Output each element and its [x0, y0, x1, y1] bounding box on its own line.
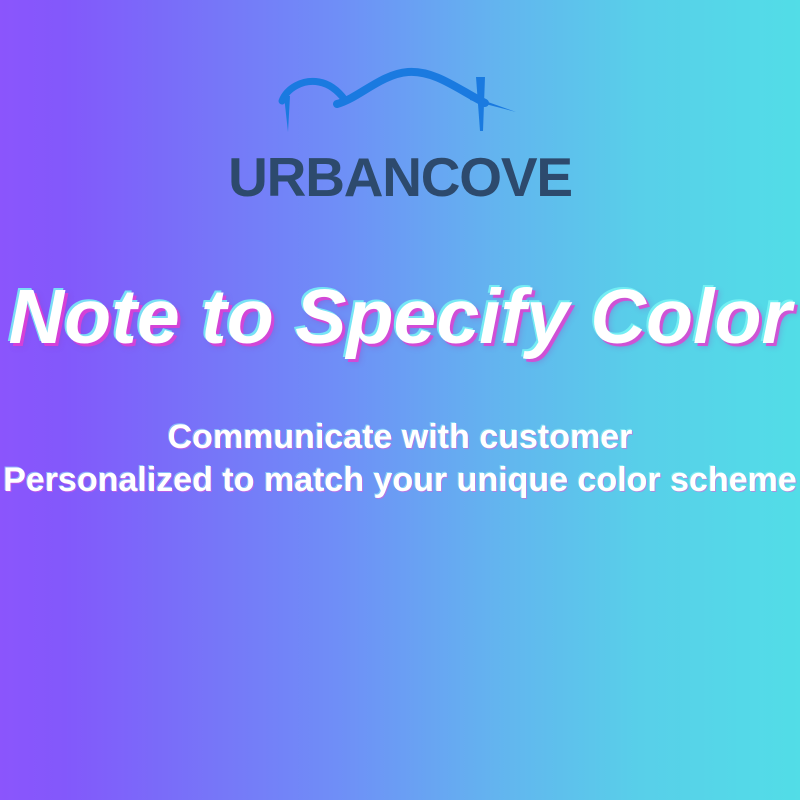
subtitle-line-2: Personalized to match your unique color …	[3, 459, 797, 503]
brand-wordmark: URBANCOVE	[228, 150, 572, 205]
promo-banner: URBANCOVE Note to Specify Color Communic…	[0, 0, 800, 800]
logo-block: URBANCOVE	[0, 62, 800, 205]
subtitle-line-1: Communicate with customer	[3, 416, 797, 460]
subtitle-block: Communicate with customer Personalized t…	[3, 416, 797, 503]
urbancove-roofline-mark-icon	[273, 62, 533, 134]
headline-text: Note to Specify Color	[9, 277, 792, 358]
